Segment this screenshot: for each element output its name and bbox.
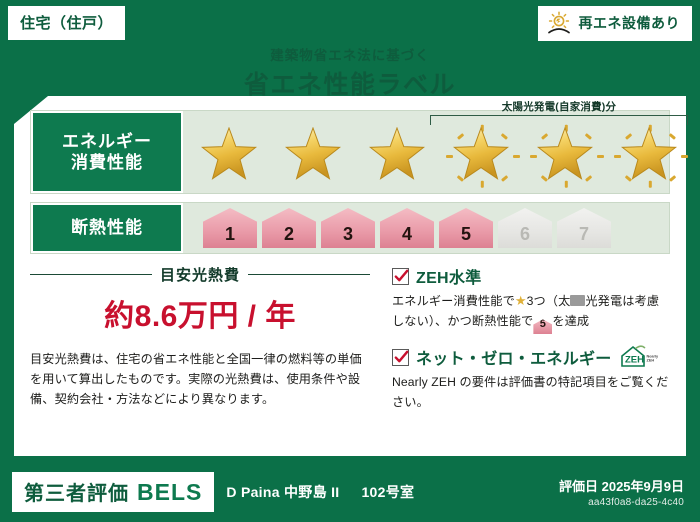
insulation-level-badges: 1234567 — [203, 208, 611, 248]
zeh-standard-description: エネルギー消費性能で★3つ（太光発電は考慮しない）、かつ断熱性能で5を達成 — [392, 291, 670, 334]
net-zero-energy-checkbox[interactable] — [392, 349, 409, 366]
energy-performance-value: 太陽光発電(自家消費)分 — [183, 111, 689, 193]
energy-key-line2: 消費性能 — [71, 152, 143, 173]
inline-star-icon: ★ — [515, 293, 527, 308]
insulation-performance-value: 1234567 — [183, 203, 669, 253]
zeh-section: ZEH水準 エネルギー消費性能で★3つ（太光発電は考慮しない）、かつ断熱性能で5… — [382, 262, 670, 438]
star-icon — [367, 127, 427, 185]
utility-cost-value: 約8.6万円 / 年 — [30, 291, 370, 335]
cost-heading-text: 目安光熱費 — [160, 264, 240, 285]
label-title: 建築物省エネ法に基づく 省エネ性能ラベル — [0, 44, 700, 101]
zeh-standard-item: ZEH水準 エネルギー消費性能で★3つ（太光発電は考慮しない）、かつ断熱性能で5… — [392, 264, 670, 334]
renewable-energy-badge: 再エネ設備あり — [538, 6, 693, 41]
star-icon — [283, 127, 343, 185]
insulation-level-5: 5 — [439, 208, 493, 248]
insulation-level-7: 7 — [557, 208, 611, 248]
insulation-level-4: 4 — [380, 208, 434, 248]
bels-logo-text: BELS — [137, 479, 202, 506]
title-main: 省エネ性能ラベル — [0, 65, 700, 101]
insulation-performance-row: 断熱性能 1234567 — [30, 202, 670, 254]
utility-cost-note: 目安光熱費は、住宅の省エネ性能と全国一律の燃料等の単価を用いて算出したものです。… — [30, 349, 370, 409]
redacted-character — [570, 295, 585, 306]
title-subtitle: 建築物省エネ法に基づく — [0, 44, 700, 64]
label-footer: 第三者評価 BELS D Paina 中野島 II 102号室 評価日 2025… — [0, 462, 700, 522]
panel-bottom: 目安光熱費 約8.6万円 / 年 目安光熱費は、住宅の省エネ性能と全国一律の燃料… — [30, 262, 670, 438]
insulation-level-3: 3 — [321, 208, 375, 248]
zeh-standard-title: ZEH水準 — [416, 264, 482, 288]
star-2 — [273, 125, 353, 187]
zeh-standard-checkbox[interactable] — [392, 268, 409, 285]
property-name: D Paina 中野島 II — [226, 482, 339, 502]
star-3 — [357, 125, 437, 187]
star-icon — [619, 127, 679, 185]
solar-bracket — [430, 115, 688, 125]
star-6 — [609, 125, 689, 187]
svg-text:ZEH: ZEH — [625, 355, 644, 366]
svg-text:ZEH: ZEH — [646, 359, 654, 363]
bels-chip: 第三者評価 BELS — [12, 472, 214, 512]
room-number: 102号室 — [361, 482, 414, 502]
zeh-desc-part2: 3つ（太 — [527, 294, 571, 308]
star-1 — [189, 125, 269, 187]
solar-sun-icon — [546, 11, 572, 35]
net-zero-energy-header: ネット・ゼロ・エネルギー ZEH Nearly ZEH — [392, 344, 670, 370]
renewable-badge-label: 再エネ設備あり — [579, 13, 681, 33]
solar-annotation: 太陽光発電(自家消費)分 — [430, 99, 688, 125]
main-panel: エネルギー 消費性能 太陽光発電(自家消費)分 断熱性能 1234567 — [14, 96, 686, 456]
star-rating — [189, 125, 689, 187]
check-icon — [394, 269, 409, 284]
star-icon — [451, 127, 511, 185]
inline-insulation-badge: 5 — [533, 319, 552, 334]
footer-right-block: 評価日 2025年9月9日 aa43f0a8-da25-4c40 — [559, 476, 688, 508]
insulation-level-2: 2 — [262, 208, 316, 248]
utility-cost-heading: 目安光熱費 — [30, 264, 370, 285]
energy-performance-label: 住宅（住戸） 再エネ設備あり 建築物省エネ法に基づく — [0, 0, 700, 522]
star-5 — [525, 125, 605, 187]
evaluation-date-label: 評価日 — [559, 479, 598, 494]
cost-rule-right — [248, 274, 370, 276]
evaluation-date: 評価日 2025年9月9日 — [559, 476, 684, 495]
net-zero-energy-title: ネット・ゼロ・エネルギー — [416, 345, 612, 369]
star-4 — [441, 125, 521, 187]
insulation-performance-label-key: 断熱性能 — [31, 203, 183, 253]
energy-key-line1: エネルギー — [62, 131, 152, 152]
net-zero-energy-description: Nearly ZEH の要件は評価書の特記項目をご覧ください。 — [392, 373, 670, 412]
insulation-level-6: 6 — [498, 208, 552, 248]
zeh-desc-part1: エネルギー消費性能で — [392, 294, 515, 308]
solar-annotation-text: 太陽光発電(自家消費)分 — [430, 99, 688, 114]
energy-performance-row: エネルギー 消費性能 太陽光発電(自家消費)分 — [30, 110, 670, 194]
zeh-desc-part4: を達成 — [552, 314, 589, 328]
third-party-eval-label: 第三者評価 — [24, 477, 129, 506]
cost-rule-left — [30, 274, 152, 276]
insulation-level-1: 1 — [203, 208, 257, 248]
check-icon — [394, 350, 409, 365]
utility-cost-section: 目安光熱費 約8.6万円 / 年 目安光熱費は、住宅の省エネ性能と全国一律の燃料… — [30, 262, 382, 438]
star-icon — [535, 127, 595, 185]
net-zero-energy-item: ネット・ゼロ・エネルギー ZEH Nearly ZEH Nearly ZEH の… — [392, 344, 670, 412]
energy-performance-label-key: エネルギー 消費性能 — [31, 111, 183, 193]
zeh-house-logo: ZEH Nearly ZEH — [619, 344, 659, 370]
evaluation-date-value: 2025年9月9日 — [602, 479, 684, 494]
evaluation-id: aa43f0a8-da25-4c40 — [559, 497, 684, 508]
housing-type-chip: 住宅（住戸） — [8, 6, 125, 40]
star-icon — [199, 127, 259, 185]
insulation-key-text: 断熱性能 — [71, 217, 143, 238]
zeh-standard-header: ZEH水準 — [392, 264, 670, 288]
